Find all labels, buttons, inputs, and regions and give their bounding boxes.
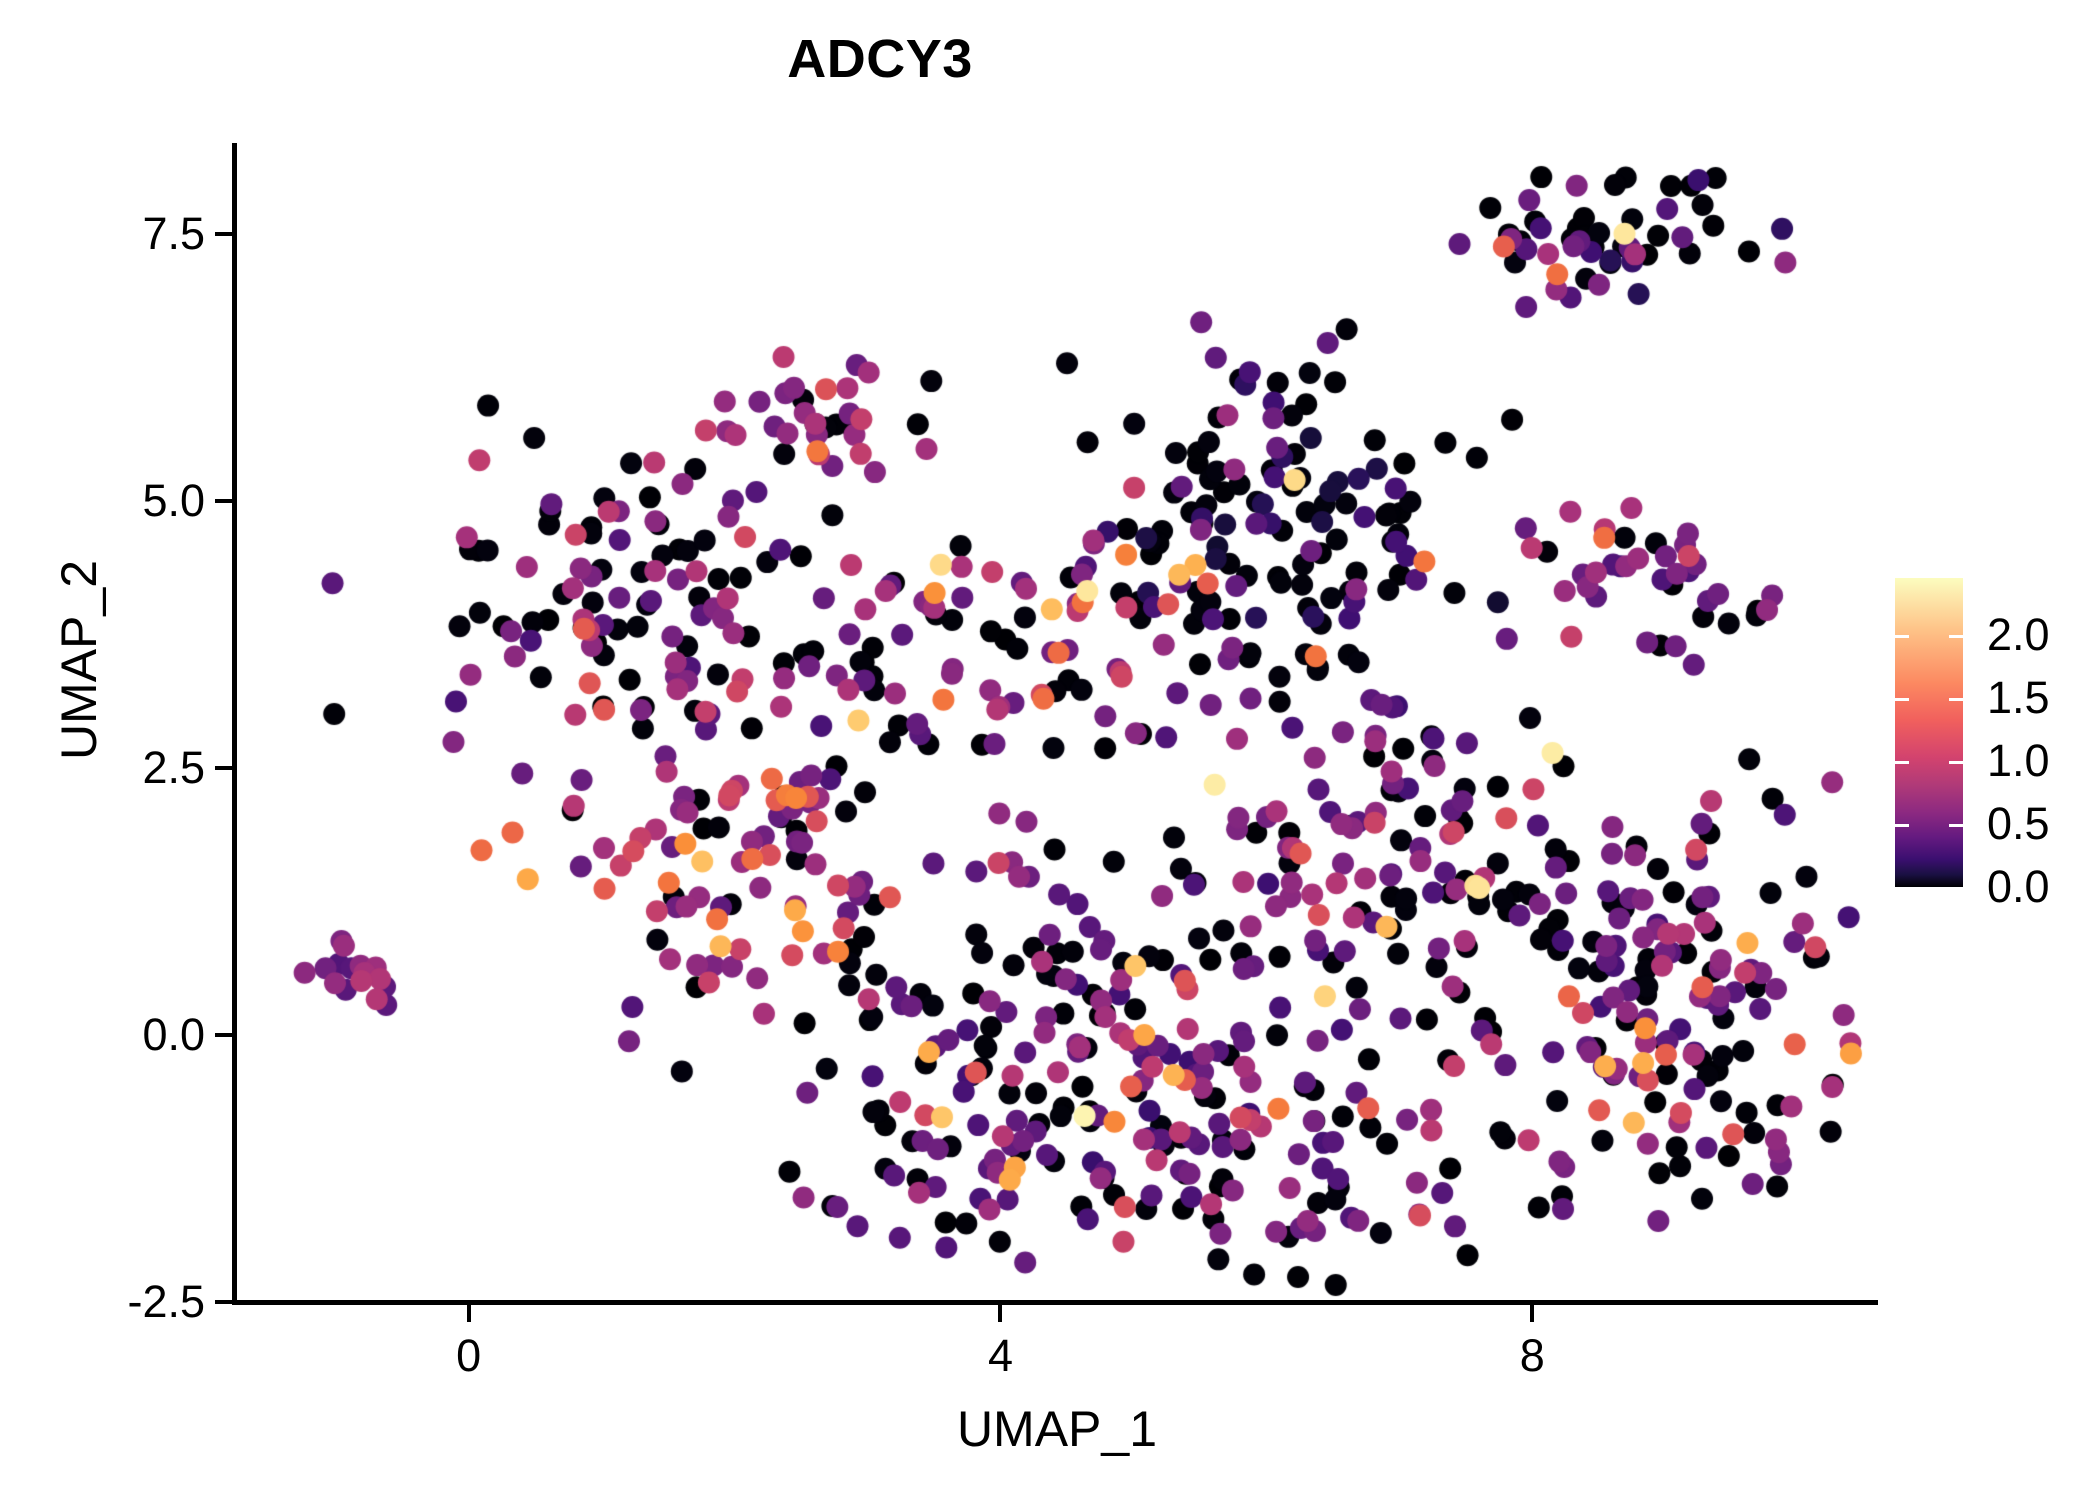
y-tick-mark [215, 766, 232, 770]
colorbar-tick-label: 1.5 [1987, 672, 2050, 724]
colorbar-tick-mark [1949, 761, 1963, 764]
y-tick-label: -2.5 [0, 1276, 205, 1328]
y-tick-label: 7.5 [0, 208, 205, 260]
x-tick-label: 0 [389, 1330, 549, 1382]
page-title: ADCY3 [0, 28, 1760, 90]
colorbar-tick-label: 0.5 [1987, 798, 2050, 850]
colorbar-tick-mark [1895, 698, 1909, 701]
colorbar-tick-mark [1949, 698, 1963, 701]
y-tick-mark [215, 1033, 232, 1037]
colorbar-tick-label: 2.0 [1987, 609, 2050, 661]
colorbar-tick-mark [1949, 635, 1963, 638]
plot-panel [236, 143, 1878, 1302]
y-tick-label: 0.0 [0, 1009, 205, 1061]
colorbar-tick-mark [1949, 824, 1963, 827]
colorbar-tick-mark [1895, 635, 1909, 638]
y-axis-title: UMAP_2 [50, 310, 108, 1010]
colorbar-tick-label: 1.0 [1987, 735, 2050, 787]
color-legend: 2.01.51.00.50.0 [1895, 578, 2085, 898]
y-tick-mark [215, 499, 232, 503]
x-tick-mark [1530, 1305, 1534, 1322]
x-axis-title: UMAP_1 [236, 1400, 1878, 1458]
umap-feature-plot: ADCY3 -2.50.02.55.07.5 048 UMAP_1 UMAP_2… [0, 0, 2100, 1500]
colorbar-gradient [1895, 578, 1963, 887]
x-axis-line [232, 1300, 1878, 1305]
colorbar-tick-mark [1895, 761, 1909, 764]
colorbar-tick-mark [1895, 824, 1909, 827]
y-axis-line [232, 143, 237, 1305]
x-tick-label: 4 [920, 1330, 1080, 1382]
x-tick-mark [998, 1305, 1002, 1322]
x-tick-label: 8 [1452, 1330, 1612, 1382]
x-tick-mark [467, 1305, 471, 1322]
y-tick-mark [215, 232, 232, 236]
colorbar-tick-label: 0.0 [1987, 861, 2050, 913]
scatter-points-layer [236, 143, 1878, 1302]
y-tick-mark [215, 1300, 232, 1304]
